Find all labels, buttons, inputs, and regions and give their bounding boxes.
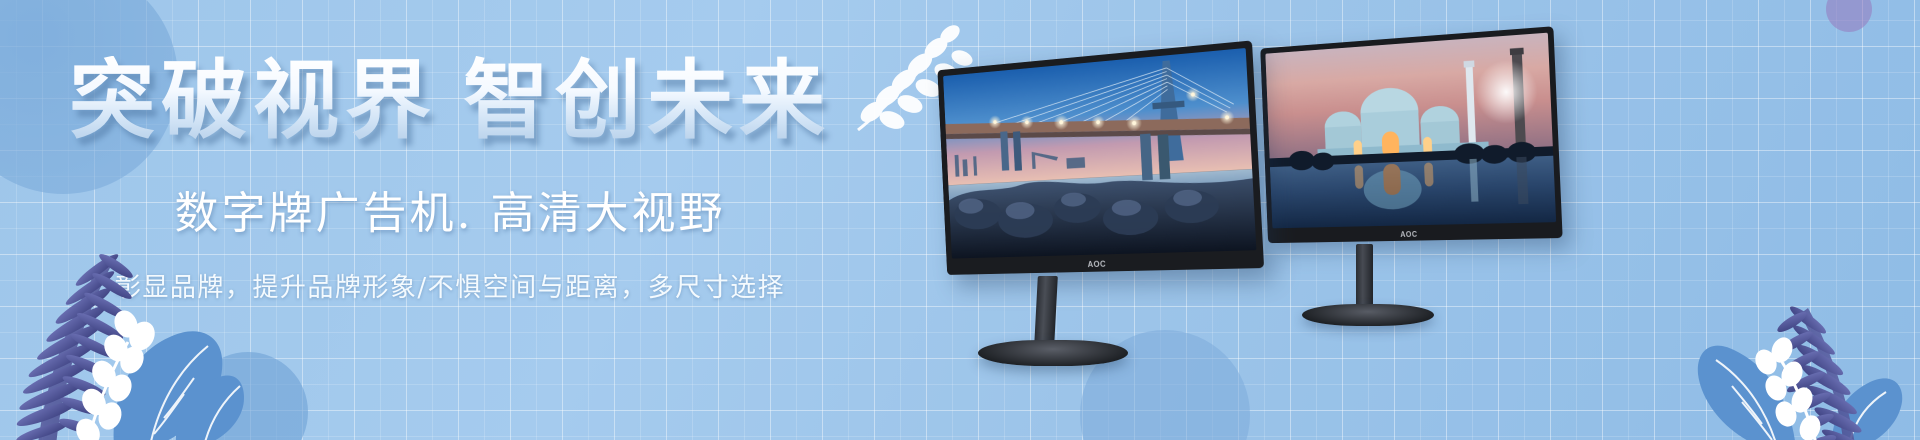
promo-banner: 突破视界智创未来 数字牌广告机. 高清大视野 彰显品牌，提升品牌形象/不惧空间与… bbox=[0, 0, 1920, 440]
monitor-back-panel: AOC bbox=[1260, 26, 1562, 243]
banner-copy: 突破视界智创未来 数字牌广告机. 高清大视野 彰显品牌，提升品牌形象/不惧空间与… bbox=[0, 56, 900, 304]
mosque-screen-image bbox=[1265, 33, 1556, 229]
monitor-back-screen bbox=[1265, 33, 1556, 229]
monitor-front-brand-logo: AOC bbox=[1087, 259, 1106, 269]
monitor-front-panel: AOC bbox=[937, 40, 1264, 275]
monitor-back-stand-base bbox=[1302, 304, 1434, 326]
bridge-screen-image bbox=[943, 48, 1256, 259]
product-group: AOC bbox=[880, 0, 1920, 440]
decor-circle-bottom-left bbox=[188, 352, 308, 440]
subtitle: 数字牌广告机. 高清大视野 bbox=[0, 177, 900, 241]
monitor-back-brand-logo: AOC bbox=[1400, 230, 1418, 239]
headline: 突破视界智创未来 bbox=[0, 56, 900, 147]
headline-part-1: 突破视界 bbox=[69, 51, 437, 151]
headline-part-2: 智创未来 bbox=[463, 51, 831, 151]
monitor-front-screen bbox=[943, 48, 1256, 259]
monitor-back-stand-neck bbox=[1356, 244, 1373, 310]
monitor-front[interactable]: AOC bbox=[890, 40, 1280, 350]
monitor-front-stand-base bbox=[978, 340, 1128, 366]
tagline: 彰显品牌，提升品牌形象/不惧空间与距离，多尺寸选择 bbox=[0, 267, 900, 304]
monitor-back[interactable]: AOC bbox=[1228, 26, 1628, 346]
monitor-front-stand-neck bbox=[1034, 276, 1058, 346]
